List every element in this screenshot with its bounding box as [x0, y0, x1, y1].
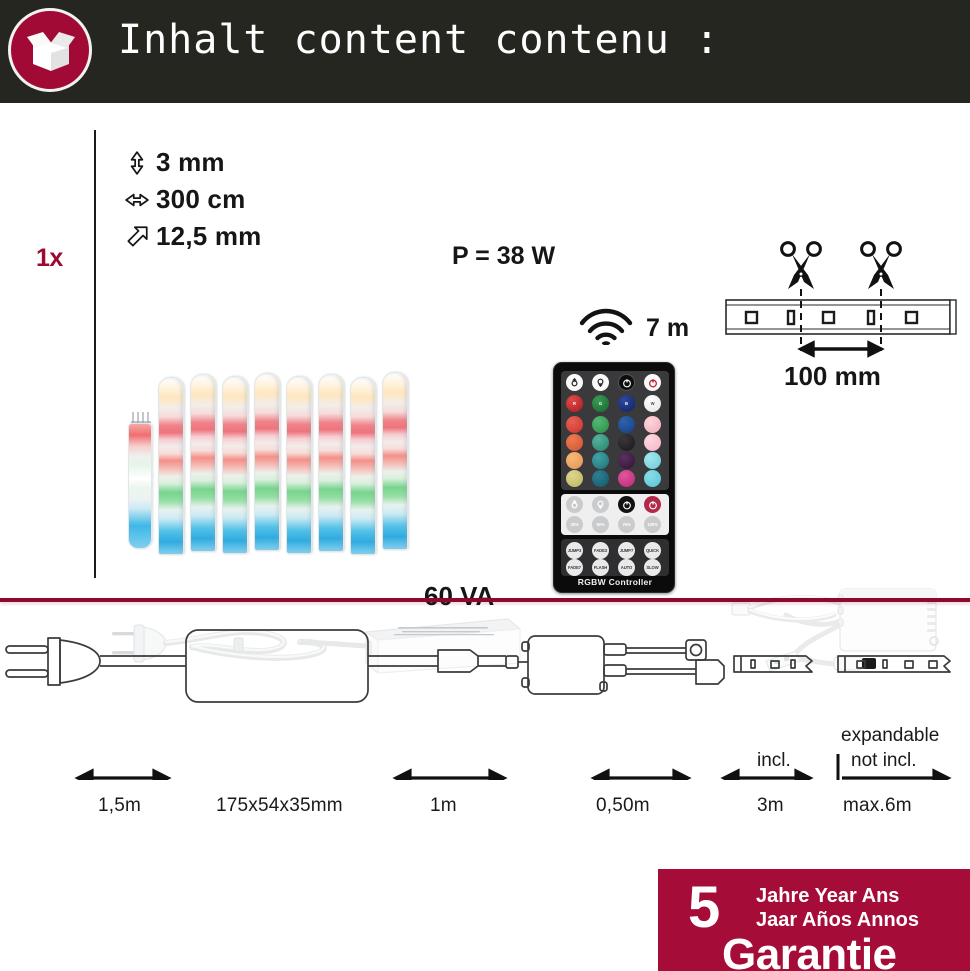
dim-strip-max: max.6m [843, 795, 912, 817]
brightness-down-icon[interactable] [592, 374, 609, 391]
led-strip-segment [254, 373, 280, 551]
cut-length-label: 100 mm [784, 361, 881, 392]
remote-fn-fade3[interactable]: FADE3 [592, 542, 609, 559]
note-included: incl. [757, 750, 791, 772]
remote-color-button[interactable] [644, 470, 661, 487]
remote-fn-fade7[interactable]: FADE7 [566, 559, 583, 576]
dim-psu-size: 175x54x35mm [216, 795, 343, 817]
dim-strip-incl: 3m [757, 795, 784, 817]
remote-color-button[interactable] [592, 470, 609, 487]
spec-width-value: 300 cm [156, 184, 245, 215]
remote-color-button[interactable] [566, 416, 583, 433]
cut-length-diagram: 100 mm [718, 241, 968, 401]
open-box-icon [8, 8, 92, 92]
led-strip-segment [286, 376, 312, 554]
power-off-icon[interactable] [618, 496, 635, 513]
led-strip-segment [382, 372, 408, 550]
dim-output-cable: 1m [430, 795, 457, 817]
dim-mains-cable: 1,5m [98, 795, 141, 817]
remote-color-g[interactable]: G [592, 395, 609, 412]
psu-rating-label: 60 VA [424, 581, 494, 612]
remote-device-label: RGBW Controller [554, 577, 676, 587]
width-arrow-icon [124, 187, 150, 213]
header-bar: Inhalt content contenu : [0, 0, 970, 103]
spec-height-value: 3 mm [156, 147, 225, 178]
power-on-icon[interactable] [644, 374, 661, 391]
spec-width: 300 cm [124, 184, 245, 215]
remote-brightness-50[interactable]: 50% [592, 516, 609, 533]
product-content-sheet: Inhalt content contenu : 1x 3 mm 300 cm … [0, 0, 970, 971]
guarantee-years: 5 [688, 879, 720, 937]
led-strip-segment [222, 376, 248, 554]
power-rating: P = 38 W [452, 242, 555, 271]
spec-diagonal-value: 12,5 mm [156, 221, 261, 252]
led-strip-segment [190, 374, 216, 552]
remote-color-button[interactable] [566, 434, 583, 451]
note-not-included: not incl. [851, 750, 916, 772]
remote-color-button[interactable] [644, 452, 661, 469]
remote-fn-jump7[interactable]: JUMP7 [618, 542, 635, 559]
guarantee-line-1: Jahre Year Ans [756, 885, 899, 908]
scissors-icon [862, 243, 901, 289]
led-strip-photo [128, 371, 418, 561]
remote-color-button[interactable] [592, 434, 609, 451]
brightness-up-icon[interactable] [566, 496, 583, 513]
section-divider [0, 598, 970, 602]
scissors-icon [782, 243, 821, 289]
led-strip-segment [318, 374, 344, 552]
system-schematic: 1,5m 175x54x35mm 1m 0,50m 3m max.6m incl… [0, 620, 970, 835]
guarantee-title: Garantie [722, 930, 897, 971]
brightness-up-icon[interactable] [566, 374, 583, 391]
vertical-divider [94, 130, 96, 578]
content-section: 1x 3 mm 300 cm 12,5 mm P = 38 W [0, 103, 970, 600]
remote-color-button[interactable] [592, 452, 609, 469]
diagonal-arrow-icon [124, 224, 150, 250]
spec-diagonal: 12,5 mm [124, 221, 261, 252]
remote-fn-auto[interactable]: AUTO [618, 559, 635, 576]
wifi-signal-icon [578, 303, 634, 345]
remote-color-b[interactable]: B [618, 395, 635, 412]
note-expandable: expandable [841, 725, 939, 747]
wireless-range-value: 7 m [646, 314, 689, 345]
remote-color-w[interactable]: W [644, 395, 661, 412]
wireless-range: 7 m [578, 303, 689, 345]
schematic-line-drawing [0, 620, 970, 780]
led-strip-segment [350, 377, 376, 555]
guarantee-badge: 5 Jahre Year Ans Jaar Años Annos Garanti… [658, 869, 970, 971]
remote-color-button[interactable] [592, 416, 609, 433]
remote-fn-slow[interactable]: SLOW [644, 559, 661, 576]
remote-color-button[interactable] [618, 434, 635, 451]
remote-fn-jump3[interactable]: JUMP3 [566, 542, 583, 559]
remote-brightness-75[interactable]: 75% [618, 516, 635, 533]
dim-ctrl-cable: 0,50m [596, 795, 650, 817]
remote-color-button[interactable] [618, 452, 635, 469]
guarantee-line-2: Jaar Años Annos [756, 909, 919, 932]
height-arrow-icon [124, 150, 150, 176]
strip-solder-pads-icon [130, 411, 152, 425]
page-title: Inhalt content contenu : [118, 17, 720, 63]
brightness-down-icon[interactable] [592, 496, 609, 513]
remote-color-button[interactable] [618, 416, 635, 433]
remote-brightness-25[interactable]: 25% [566, 516, 583, 533]
remote-fn-quick[interactable]: QUICK [644, 542, 661, 559]
power-on-icon[interactable] [644, 496, 661, 513]
remote-fn-flash[interactable]: FLASH [592, 559, 609, 576]
spec-height: 3 mm [124, 147, 225, 178]
remote-brightness-100[interactable]: 100% [644, 516, 661, 533]
remote-color-button[interactable] [644, 434, 661, 451]
remote-color-button[interactable] [566, 470, 583, 487]
remote-color-button[interactable] [618, 470, 635, 487]
power-off-icon[interactable] [618, 374, 635, 391]
remote-color-r[interactable]: R [566, 395, 583, 412]
remote-color-button[interactable] [644, 416, 661, 433]
led-strip-segment [158, 377, 184, 555]
strip-cut-drawing [718, 241, 968, 363]
remote-color-button[interactable] [566, 452, 583, 469]
led-strip-tail [128, 423, 152, 549]
remote-control[interactable]: R G B W [553, 362, 675, 593]
quantity-label: 1x [36, 244, 63, 273]
